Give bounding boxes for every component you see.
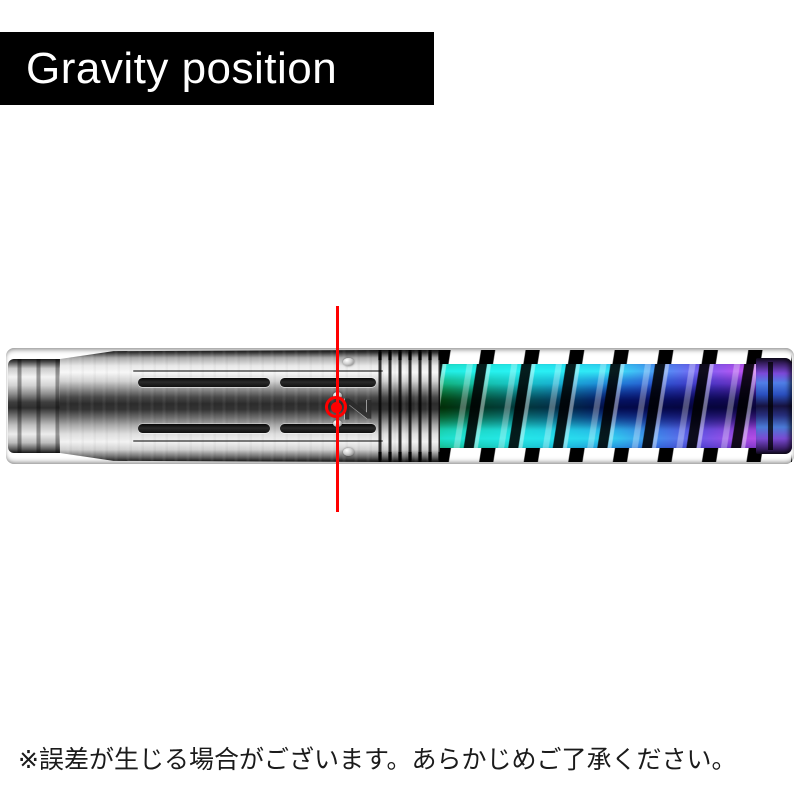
anodized-top-silhouette	[440, 350, 792, 364]
dart-barrel-image: Z	[0, 300, 800, 520]
title-banner: Gravity position	[0, 32, 434, 105]
dart-barrel: Z	[8, 350, 792, 462]
barrel-anodized-section	[440, 350, 792, 462]
barrel-slot-cut	[280, 424, 376, 433]
barrel-dimple	[343, 358, 354, 366]
screenshot-root: Gravity position Z	[0, 0, 800, 800]
anodized-spiral-highlights	[440, 350, 792, 462]
barrel-front-end-cap	[756, 358, 792, 454]
barrel-engrave-line-upper	[133, 370, 383, 372]
footnote-text: ※誤差が生じる場合がございます。あらかじめご了承ください。	[18, 740, 736, 776]
barrel-slot-cut	[280, 378, 376, 387]
barrel-front-end-groove	[768, 362, 773, 450]
anodized-bottom-silhouette	[440, 448, 792, 462]
barrel-fine-ring-band	[374, 352, 444, 460]
barrel-dimple	[343, 448, 354, 456]
barrel-slot-cut	[138, 378, 270, 387]
gravity-position-dot	[331, 402, 342, 413]
barrel-engrave-line-lower	[133, 440, 383, 442]
barrel-slot-cut	[138, 424, 270, 433]
page-title: Gravity position	[0, 47, 337, 91]
barrel-rear-cap-rings	[8, 359, 64, 453]
